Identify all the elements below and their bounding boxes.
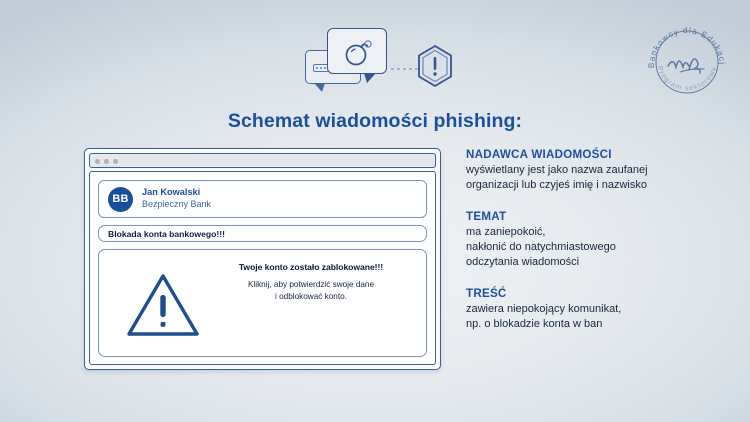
browser-viewport: BB Jan Kowalski Bezpieczny Bank Blokada … <box>89 171 436 365</box>
info-line: zawiera niepokojący komunikat, <box>466 302 716 317</box>
slide-canvas: Bankowcy dla Edukacji Program sektorowy … <box>0 0 750 422</box>
warning-triangle-icon <box>125 272 201 338</box>
window-dot[interactable] <box>113 159 118 164</box>
page-title: Schemat wiadomości phishing: <box>0 110 750 133</box>
email-body-line: i odblokować konto. <box>204 291 418 303</box>
info-line: wyświetlany jest jako nazwa zaufanej <box>466 163 716 178</box>
bomb-icon <box>341 34 375 68</box>
logo-top-text: Bankowcy dla Edukacji <box>644 22 728 68</box>
hexagon-exclamation-icon <box>415 44 455 88</box>
sender-name: Jan Kowalski <box>142 187 211 199</box>
info-line: odczytania wiadomości <box>466 255 716 270</box>
email-body-heading: Twoje konto zostało zablokowane!!! <box>204 262 418 272</box>
svg-text:Bankowcy dla Edukacji: Bankowcy dla Edukacji <box>644 22 728 68</box>
info-heading: NADAWCA WIADOMOŚCI <box>466 148 716 161</box>
wib-logo: Bankowcy dla Edukacji Program sektorowy <box>644 22 730 96</box>
sender-text-group: Jan Kowalski Bezpieczny Bank <box>142 187 211 210</box>
browser-window: BB Jan Kowalski Bezpieczny Bank Blokada … <box>84 148 441 370</box>
info-body: ma zaniepokoić, nakłonić do natychmiasto… <box>466 225 716 270</box>
info-heading: TEMAT <box>466 210 716 223</box>
info-body: wyświetlany jest jako nazwa zaufanej org… <box>466 163 716 193</box>
sender-organization: Bezpieczny Bank <box>142 199 211 211</box>
info-line: organizacji lub czyjeś imię i nazwisko <box>466 178 716 193</box>
window-dot[interactable] <box>95 159 100 164</box>
email-subject-bar: Blokada konta bankowego!!! <box>98 225 427 242</box>
info-line: np. o blokadzie konta w ban <box>466 317 716 332</box>
window-dot[interactable] <box>104 159 109 164</box>
logo-bottom-text: Program sektorowy <box>656 65 719 92</box>
info-body: zawiera niepokojący komunikat, np. o blo… <box>466 302 716 332</box>
info-block-sender: NADAWCA WIADOMOŚCI wyświetlany jest jako… <box>466 148 716 193</box>
info-block-content: TREŚĆ zawiera niepokojący komunikat, np.… <box>466 287 716 332</box>
info-block-subject: TEMAT ma zaniepokoić, nakłonić do natych… <box>466 210 716 270</box>
email-body-lines: Kliknij, aby potwierdzić swoje dane i od… <box>204 279 418 303</box>
explanation-list: NADAWCA WIADOMOŚCI wyświetlany jest jako… <box>466 148 716 332</box>
chat-bubble-bomb-icon <box>327 28 387 74</box>
info-heading: TREŚĆ <box>466 287 716 300</box>
browser-title-bar <box>89 153 436 168</box>
email-sender-card: BB Jan Kowalski Bezpieczny Bank <box>98 180 427 218</box>
avatar: BB <box>108 187 133 212</box>
email-body-card: Twoje konto zostało zablokowane!!! Klikn… <box>98 249 427 357</box>
svg-text:Program sektorowy: Program sektorowy <box>656 65 719 92</box>
email-body-text: Twoje konto zostało zablokowane!!! Klikn… <box>204 262 418 303</box>
window-controls[interactable] <box>95 159 118 164</box>
info-line: ma zaniepokoić, <box>466 225 716 240</box>
phishing-icon-group <box>305 28 445 96</box>
email-body-line: Kliknij, aby potwierdzić swoje dane <box>204 279 418 291</box>
info-line: nakłonić do natychmiastowego <box>466 240 716 255</box>
